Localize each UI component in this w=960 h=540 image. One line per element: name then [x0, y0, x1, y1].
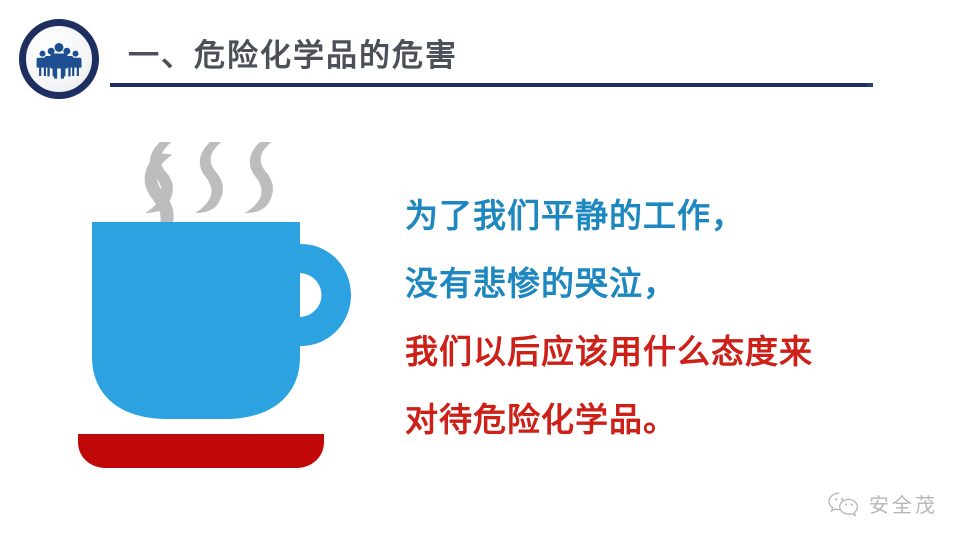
cup-body — [92, 222, 300, 419]
slide-canvas: 一、危险化学品的危害 为了我们平静的工作， 没有悲惨的哭泣， 我们以后应该用什 — [0, 0, 960, 540]
steaming-coffee-cup-illustration — [68, 122, 398, 474]
message-line: 我们以后应该用什么态度来 — [405, 318, 935, 386]
watermark-text: 安全茂 — [869, 489, 938, 518]
saucer — [78, 434, 324, 468]
wechat-icon — [827, 491, 861, 517]
message-line: 对待危险化学品。 — [405, 386, 935, 454]
message-line: 为了我们平静的工作， — [405, 182, 935, 250]
page-title: 一、危险化学品的危害 — [128, 30, 458, 75]
watermark: 安全茂 — [827, 489, 938, 518]
people-group-icon — [19, 19, 99, 99]
message-line: 没有悲惨的哭泣， — [405, 250, 935, 318]
header-divider-tail — [867, 83, 873, 87]
message-block: 为了我们平静的工作， 没有悲惨的哭泣， 我们以后应该用什么态度来 对待危险化学品… — [405, 182, 935, 454]
header-divider — [110, 83, 867, 87]
